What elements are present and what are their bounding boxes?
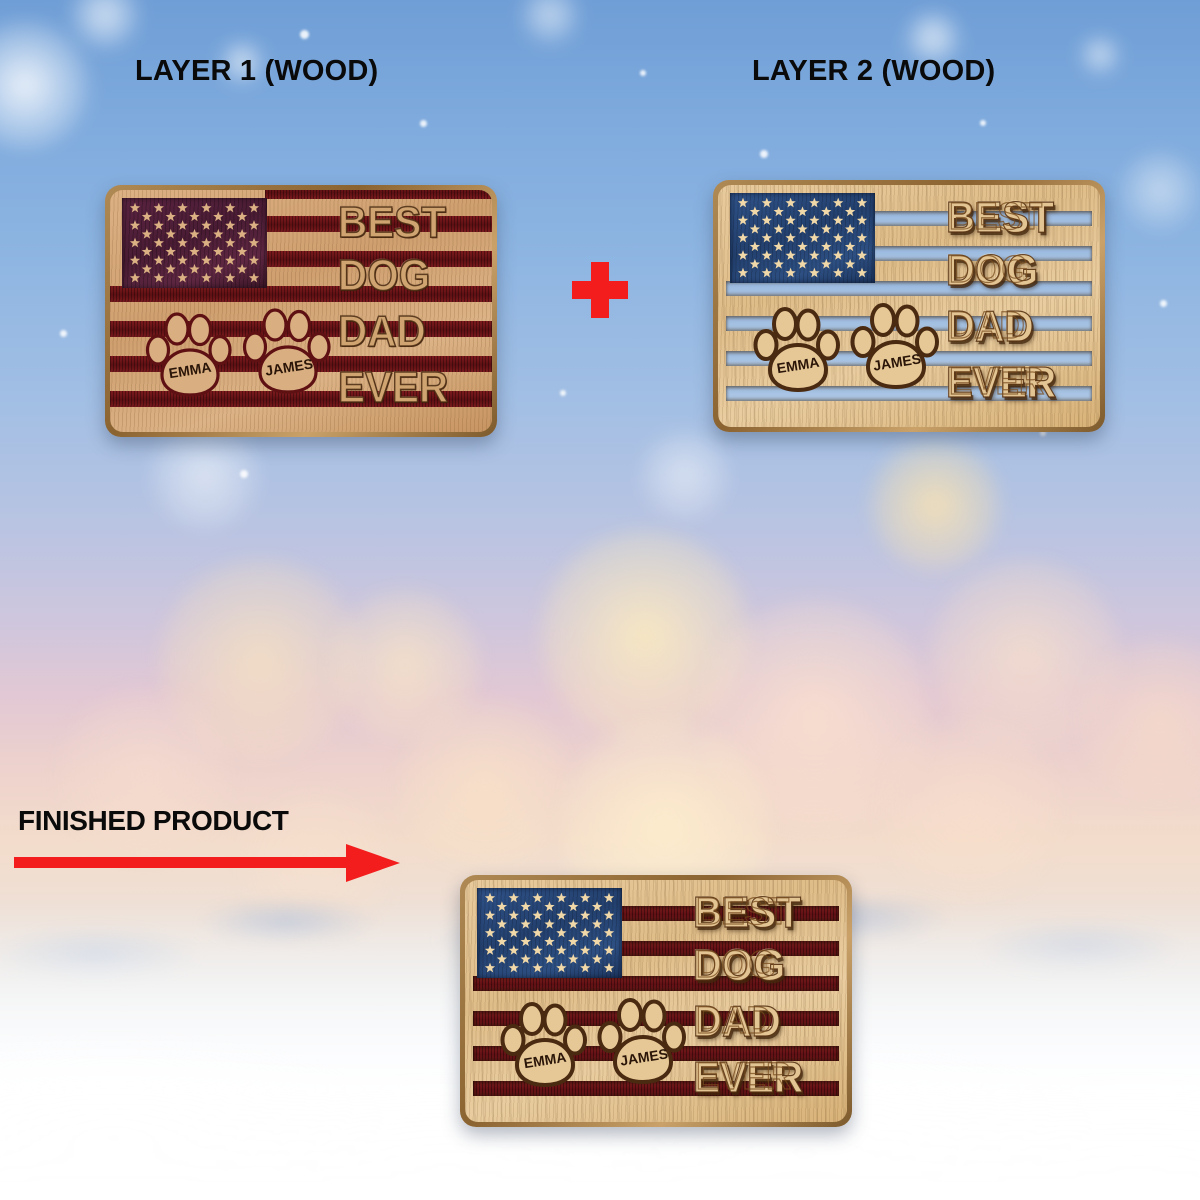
plus-icon bbox=[572, 262, 628, 318]
layer2-paw-emma bbox=[754, 301, 842, 397]
finished-face: BEST BEST DOG DOG DAD DAD EVER EVER bbox=[465, 880, 847, 1122]
paw-print-icon bbox=[146, 306, 234, 402]
layer2-word-ever: EVER bbox=[946, 358, 1056, 408]
plaque-finished-product: BEST BEST DOG DOG DAD DAD EVER EVER bbox=[460, 875, 852, 1127]
paw-print-icon bbox=[243, 302, 333, 400]
layer2-word-dog: DOG bbox=[946, 246, 1038, 296]
layer1-word-dog: DOG bbox=[338, 251, 430, 301]
arrow-right-icon bbox=[14, 843, 400, 883]
paw-print-icon bbox=[851, 297, 941, 395]
layer1-face: BEST DOG DAD EVER EMMA bbox=[110, 190, 492, 432]
finished-word-best: BEST bbox=[693, 888, 801, 938]
layer2-face: BEST BEST DOG DOG DAD DAD EVER EVER bbox=[718, 185, 1100, 427]
layer1-heading: LAYER 1 (WOOD) bbox=[135, 55, 378, 88]
layer1-word-best: BEST bbox=[338, 198, 446, 248]
layer2-word-dad: DAD bbox=[946, 302, 1034, 352]
finished-word-dog: DOG bbox=[693, 941, 785, 991]
mockup-canvas: LAYER 1 (WOOD) LAYER 2 (WOOD) FINISHED P… bbox=[0, 0, 1200, 1200]
layer1-word-dad: DAD bbox=[338, 307, 426, 357]
plaque-layer-2: BEST BEST DOG DOG DAD DAD EVER EVER bbox=[713, 180, 1105, 432]
layer1-union bbox=[122, 198, 267, 288]
plaque-layer-1: BEST DOG DAD EVER EMMA bbox=[105, 185, 497, 437]
finished-word-dad: DAD bbox=[693, 997, 781, 1047]
finished-word-ever: EVER bbox=[693, 1053, 803, 1103]
stars-group bbox=[477, 888, 622, 978]
paw-print-icon bbox=[754, 301, 842, 397]
paw-print-icon bbox=[501, 996, 589, 1092]
layer1-paw-emma bbox=[146, 306, 234, 402]
finished-union bbox=[477, 888, 622, 978]
layer2-union bbox=[730, 193, 875, 283]
stars-group bbox=[122, 198, 267, 288]
finished-product-heading: FINISHED PRODUCT bbox=[18, 805, 289, 837]
layer2-paw-james bbox=[851, 297, 941, 395]
layer2-heading: LAYER 2 (WOOD) bbox=[752, 55, 995, 88]
layer1-paw-james bbox=[243, 302, 333, 400]
finished-paw-james bbox=[598, 992, 688, 1090]
paw-print-icon bbox=[598, 992, 688, 1090]
finished-paw-emma bbox=[501, 996, 589, 1092]
layer2-word-best: BEST bbox=[946, 193, 1054, 243]
layer1-word-ever: EVER bbox=[338, 363, 448, 413]
stars-group bbox=[730, 193, 875, 283]
